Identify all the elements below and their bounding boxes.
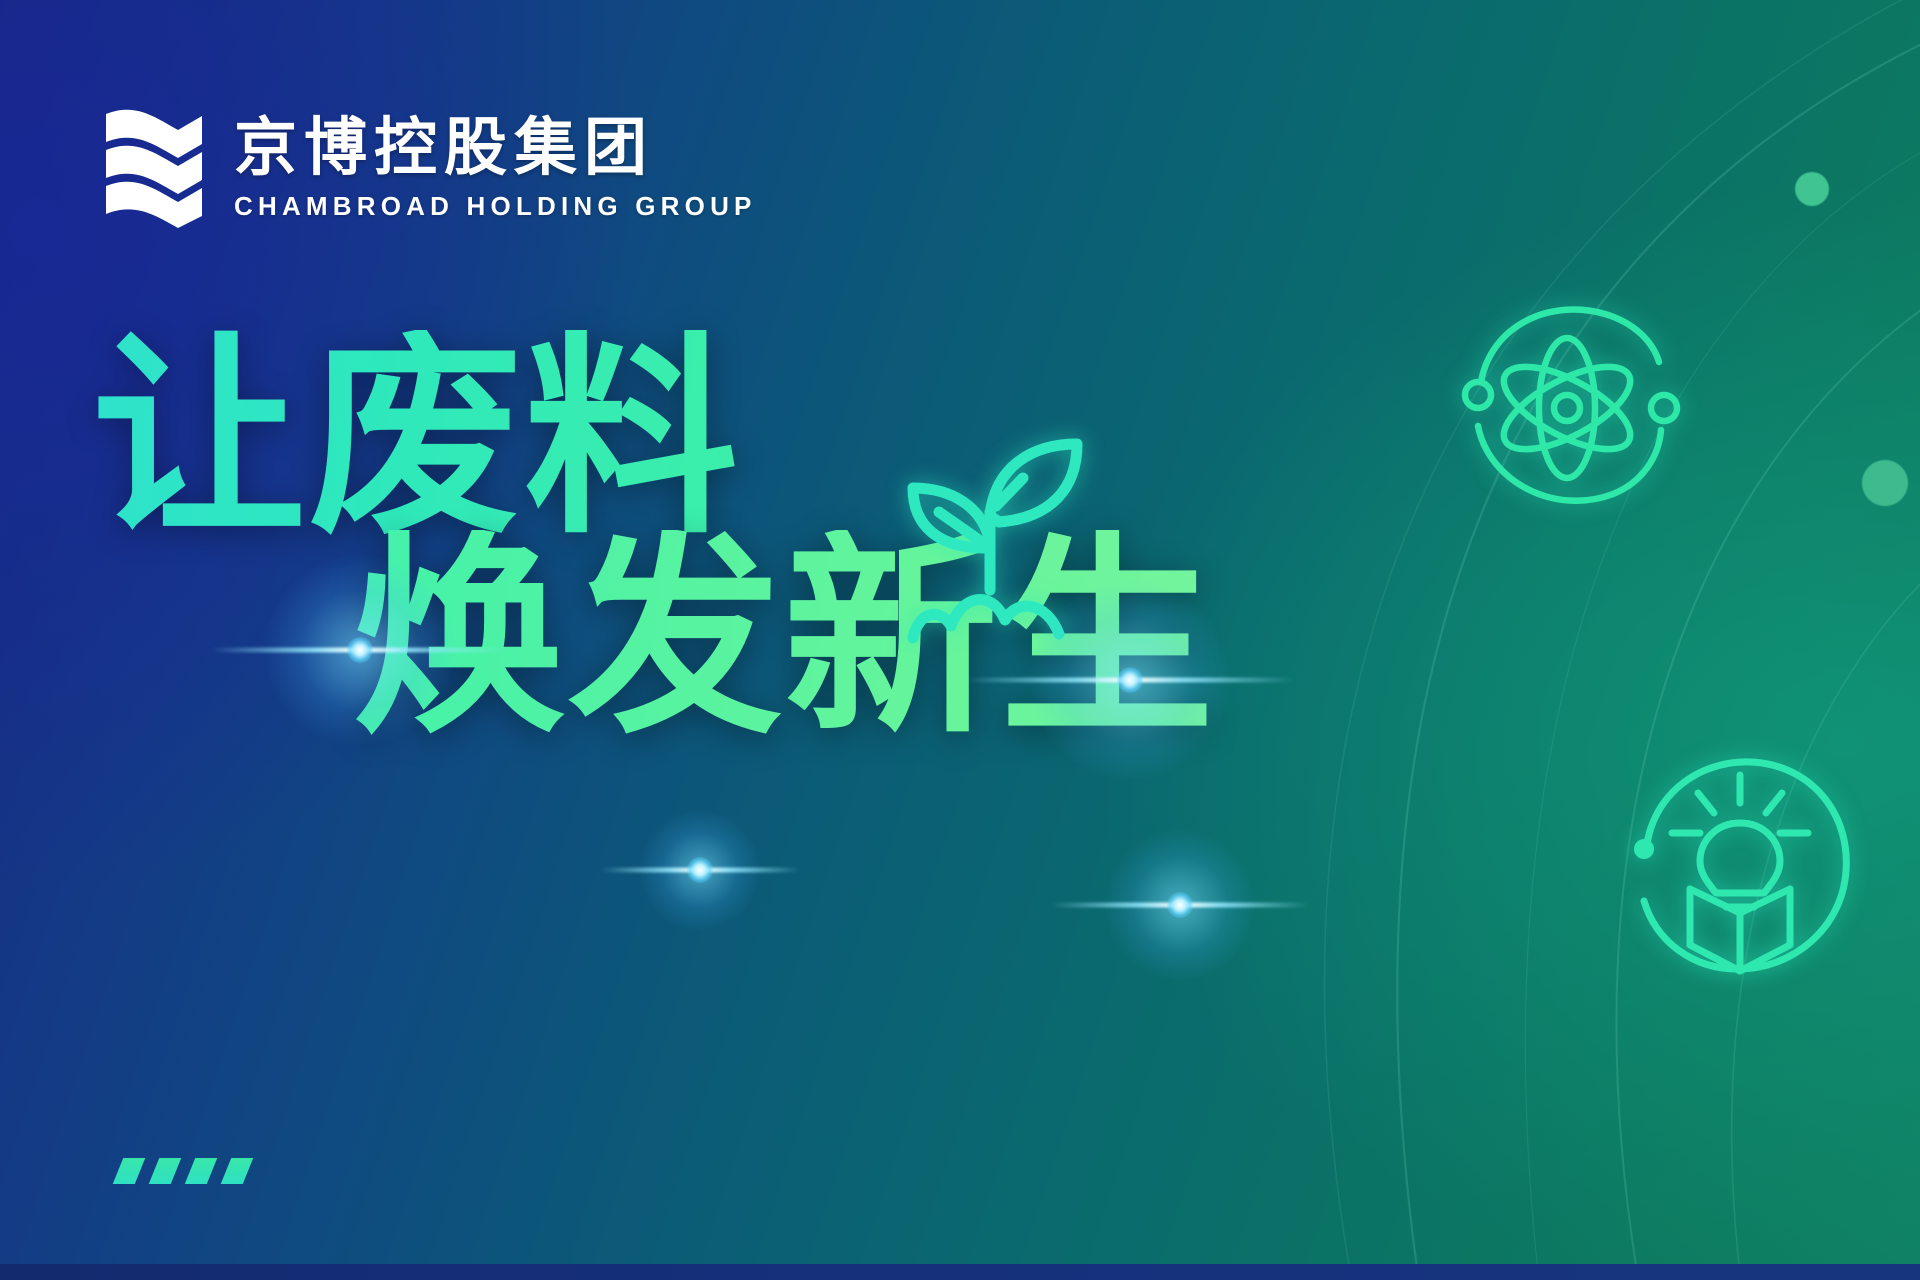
decor-dot xyxy=(1795,172,1829,206)
decor-dash xyxy=(221,1158,254,1184)
decor-dash xyxy=(185,1158,218,1184)
headline: 让废料 焕发新生 xyxy=(0,330,1560,749)
brand-name-cn: 京博控股集团 xyxy=(234,116,757,179)
poster-canvas: 京博控股集团 CHAMBROAD HOLDING GROUP 让废料 焕发新生 xyxy=(0,0,1920,1280)
decor-dash xyxy=(113,1158,146,1184)
atom-icon xyxy=(1445,290,1690,525)
bottom-bar xyxy=(0,1264,1920,1280)
chambroad-wave-mark-icon xyxy=(100,100,208,228)
decor-dot xyxy=(1862,460,1908,506)
decor-dash xyxy=(149,1158,182,1184)
brand-name-en: CHAMBROAD HOLDING GROUP xyxy=(234,191,757,222)
brand-logo: 京博控股集团 CHAMBROAD HOLDING GROUP xyxy=(100,100,757,228)
decor-dashes xyxy=(118,1158,248,1184)
sprout-icon xyxy=(895,430,1085,645)
headline-line-2: 焕发新生 xyxy=(0,530,1560,748)
lightbulb-box-icon xyxy=(1620,745,1860,985)
